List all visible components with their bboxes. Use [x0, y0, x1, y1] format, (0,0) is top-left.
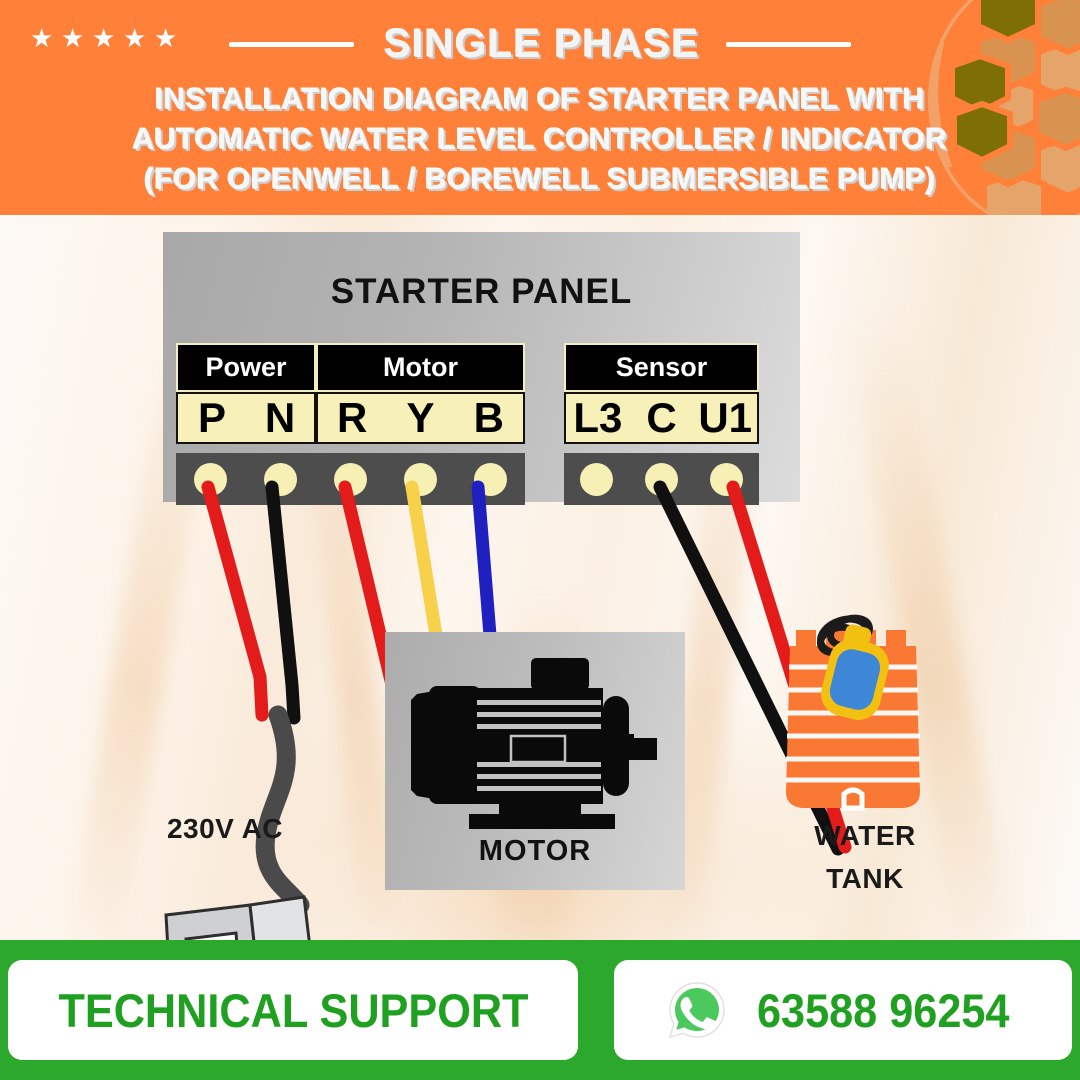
plug-cable [265, 715, 300, 905]
divider-left [229, 42, 354, 47]
page-title-line-3: (FOR OPENWELL / BOREWELL SUBMERSIBLE PUM… [0, 160, 1080, 200]
page-title-line-2: AUTOMATIC WATER LEVEL CONTROLLER / INDIC… [0, 120, 1080, 160]
whatsapp-icon [666, 979, 728, 1041]
water-tank-label-line-2: TANK [760, 863, 970, 895]
water-tank-float-switch-icon [770, 610, 955, 825]
wire-power-p-red [208, 487, 262, 715]
motor-illustration-box: MOTOR [385, 632, 685, 890]
motor-label: MOTOR [385, 835, 685, 868]
wall-socket-plug-icon [128, 887, 353, 940]
water-tank-label-line-1: WATER [760, 820, 970, 852]
technical-support-label: TECHNICAL SUPPORT [58, 983, 528, 1038]
electric-motor-icon [403, 656, 667, 831]
whatsapp-contact-card[interactable]: 63588 96254 [614, 960, 1072, 1060]
header-eyebrow-row: SINGLE PHASE [0, 18, 1080, 70]
page-footer: TECHNICAL SUPPORT 63588 96254 [0, 940, 1080, 1080]
divider-right [726, 42, 851, 47]
header-eyebrow: SINGLE PHASE [384, 22, 700, 67]
whatsapp-phone-number: 63588 96254 [757, 983, 1009, 1038]
wire-power-n-black [272, 487, 294, 718]
technical-support-card[interactable]: TECHNICAL SUPPORT [8, 960, 578, 1060]
page-title-line-1: INSTALLATION DIAGRAM OF STARTER PANEL WI… [0, 80, 1080, 120]
page-header: ★ ★ ★ ★ ★ SINGLE PHASE INSTALLATION DIAG… [0, 0, 1080, 215]
socket-label: 230V AC [110, 813, 340, 845]
page-title: INSTALLATION DIAGRAM OF STARTER PANEL WI… [0, 80, 1080, 200]
diagram-canvas: STARTER PANEL Power P N Motor R Y B Sens… [0, 215, 1080, 940]
